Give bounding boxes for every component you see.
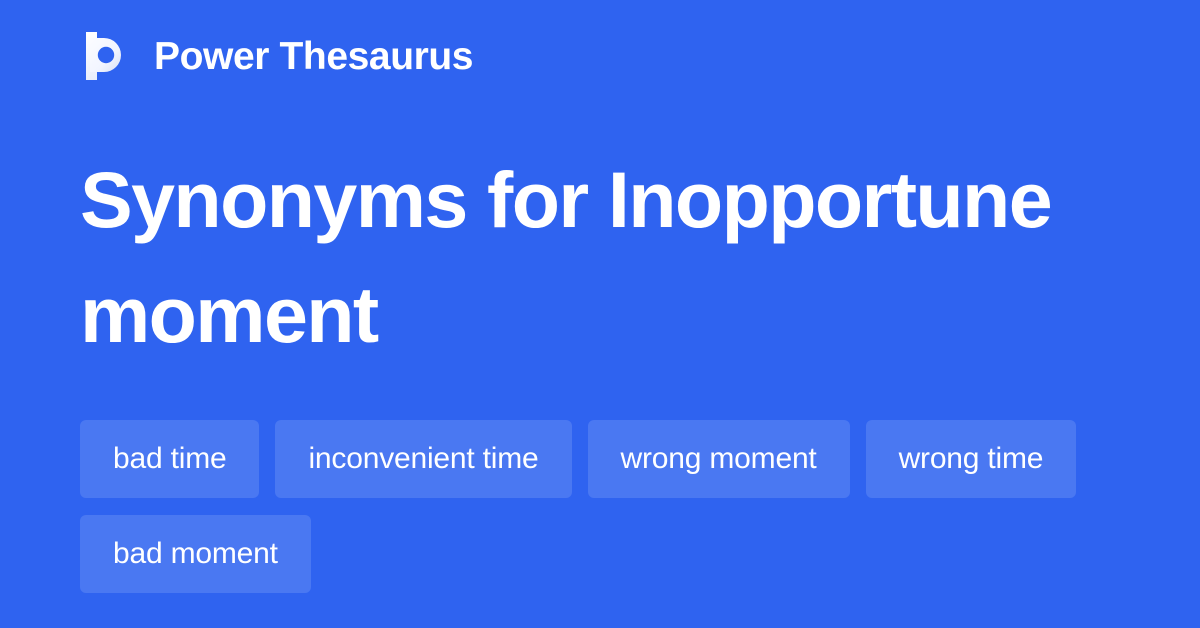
synonym-chip-list: bad time inconvenient time wrong moment …	[80, 420, 1140, 593]
synonym-chip[interactable]: bad moment	[80, 515, 311, 593]
synonym-chip[interactable]: bad time	[80, 420, 259, 498]
brand-header[interactable]: Power Thesaurus	[80, 28, 473, 84]
synonym-chip[interactable]: wrong time	[866, 420, 1077, 498]
page-title: Synonyms for Inopportune moment	[80, 142, 1150, 372]
power-thesaurus-b-logo-icon	[80, 30, 132, 82]
share-card: Power Thesaurus Synonyms for Inopportune…	[0, 0, 1200, 628]
synonym-chip[interactable]: inconvenient time	[275, 420, 571, 498]
brand-name: Power Thesaurus	[154, 37, 473, 76]
synonym-chip[interactable]: wrong moment	[588, 420, 850, 498]
